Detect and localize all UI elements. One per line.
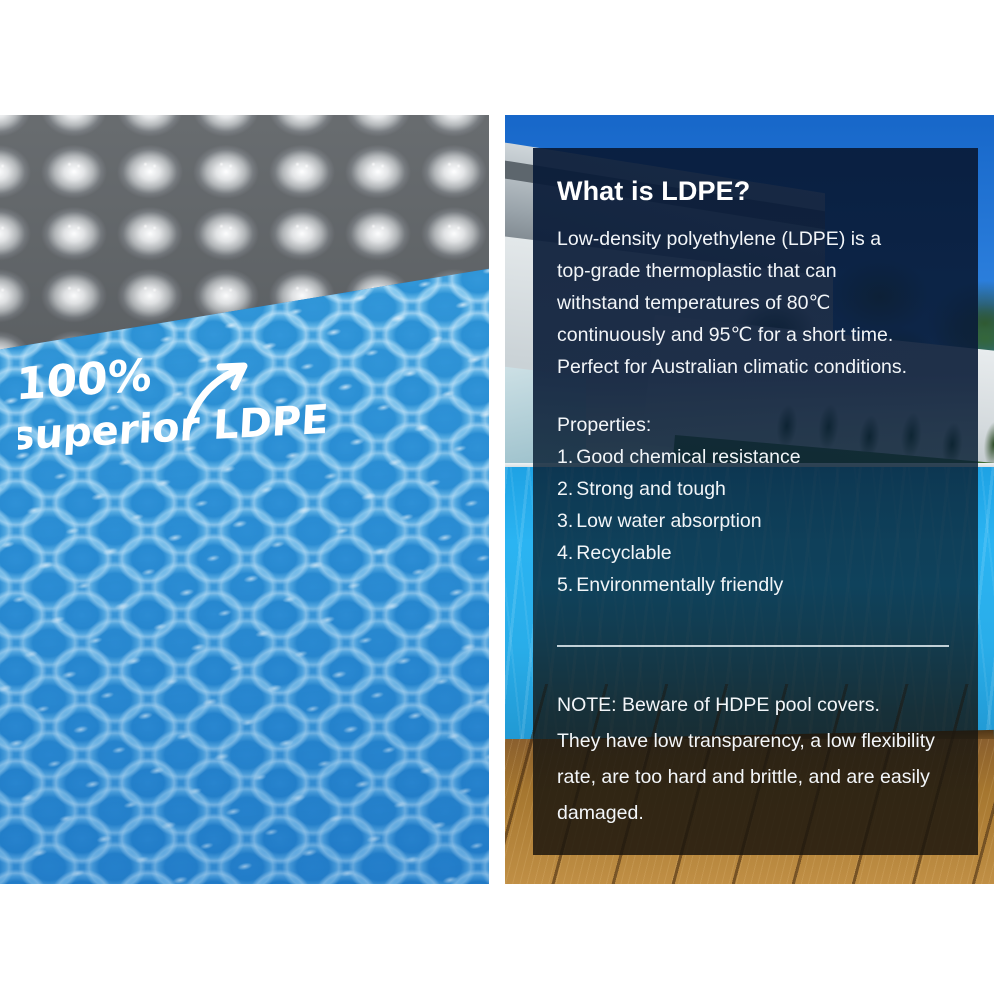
list-item-label: Strong and tough: [576, 473, 726, 505]
description-line: withstand temperatures of 80℃: [557, 287, 956, 319]
description-line: top-grade thermoplastic that can: [557, 255, 956, 287]
list-item-label: Recyclable: [576, 537, 671, 569]
list-item-label: Good chemical resistance: [576, 441, 800, 473]
list-item: 1. Good chemical resistance: [557, 441, 956, 473]
info-description: Low-density polyethylene (LDPE) is a top…: [557, 223, 956, 383]
properties-section: Properties: 1. Good chemical resistance …: [557, 409, 956, 601]
list-item-number: 5.: [557, 569, 573, 601]
list-item-number: 3.: [557, 505, 573, 537]
note-line: damaged.: [557, 795, 956, 831]
note-line: They have low transparency, a low flexib…: [557, 723, 956, 759]
product-texture-panel: 100% superior LDPE: [0, 115, 489, 884]
note-section: NOTE: Beware of HDPE pool covers. They h…: [557, 687, 956, 831]
list-item-number: 1.: [557, 441, 573, 473]
description-line: continuously and 95℃ for a short time.: [557, 319, 956, 351]
list-item-number: 2.: [557, 473, 573, 505]
note-line: NOTE: Beware of HDPE pool covers.: [557, 687, 956, 723]
properties-heading: Properties:: [557, 409, 956, 441]
description-line: Perfect for Australian climatic conditio…: [557, 351, 956, 383]
list-item-number: 4.: [557, 537, 573, 569]
ldpe-info-panel: What is LDPE? Low-density polyethylene (…: [505, 115, 994, 884]
section-divider: [557, 645, 949, 647]
list-item: 2. Strong and tough: [557, 473, 956, 505]
info-overlay-box: What is LDPE? Low-density polyethylene (…: [533, 148, 978, 855]
list-item-label: Low water absorption: [576, 505, 761, 537]
description-line: Low-density polyethylene (LDPE) is a: [557, 223, 956, 255]
list-item: 4. Recyclable: [557, 537, 956, 569]
info-title: What is LDPE?: [557, 176, 956, 207]
list-item-label: Environmentally friendly: [576, 569, 783, 601]
list-item: 5. Environmentally friendly: [557, 569, 956, 601]
list-item: 3. Low water absorption: [557, 505, 956, 537]
product-info-graphic: 100% superior LDPE: [0, 0, 1000, 1000]
note-line: rate, are too hard and brittle, and are …: [557, 759, 956, 795]
